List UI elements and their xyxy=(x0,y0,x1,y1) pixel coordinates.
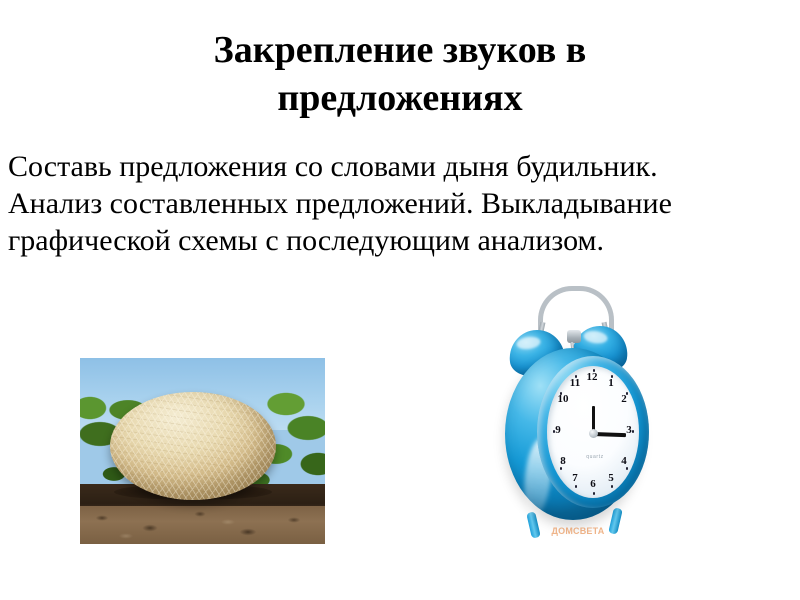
clock-bell-hammer xyxy=(567,330,581,343)
clock-numeral-6: 6 xyxy=(586,479,600,490)
clock-tick xyxy=(611,485,613,488)
clock-tick xyxy=(593,492,595,495)
clock-center-pin xyxy=(589,429,598,438)
clock-tick xyxy=(632,430,634,433)
clock-numeral-12: 12 xyxy=(585,372,599,383)
page-title: Закрепление звуков в предложениях xyxy=(100,26,700,122)
clock-tick xyxy=(560,467,562,470)
clock-numeral-7: 7 xyxy=(568,473,582,484)
clock-tick xyxy=(611,375,613,378)
clock-numeral-1: 1 xyxy=(604,378,618,389)
clock-numeral-11: 11 xyxy=(568,378,582,389)
clock-brand-label: quartz xyxy=(575,454,615,460)
melon-photo xyxy=(80,358,325,544)
clock-numeral-2: 2 xyxy=(617,394,631,405)
melon-photo-soil-light xyxy=(80,506,325,544)
clock-tick xyxy=(575,485,577,488)
clock-tick xyxy=(626,392,628,395)
clock-tick xyxy=(560,392,562,395)
melon-fruit xyxy=(110,392,276,500)
slide-canvas: Закрепление звуков в предложениях Состав… xyxy=(0,0,800,600)
alarm-clock-photo: 12 1 2 3 4 5 6 7 8 9 10 11 quartz xyxy=(495,286,655,554)
clock-tick xyxy=(593,369,595,372)
clock-tick xyxy=(626,467,628,470)
clock-numeral-8: 8 xyxy=(556,456,570,467)
clock-tick xyxy=(553,430,555,433)
body-paragraph: Составь предложения со словами дыня буди… xyxy=(8,148,724,259)
clock-photo-watermark: ДОМСВЕТА xyxy=(543,526,613,536)
clock-tick xyxy=(575,375,577,378)
clock-face: 12 1 2 3 4 5 6 7 8 9 10 11 quartz xyxy=(547,366,639,498)
clock-numeral-10: 10 xyxy=(556,394,570,405)
clock-numeral-4: 4 xyxy=(617,456,631,467)
clock-numeral-5: 5 xyxy=(604,473,618,484)
